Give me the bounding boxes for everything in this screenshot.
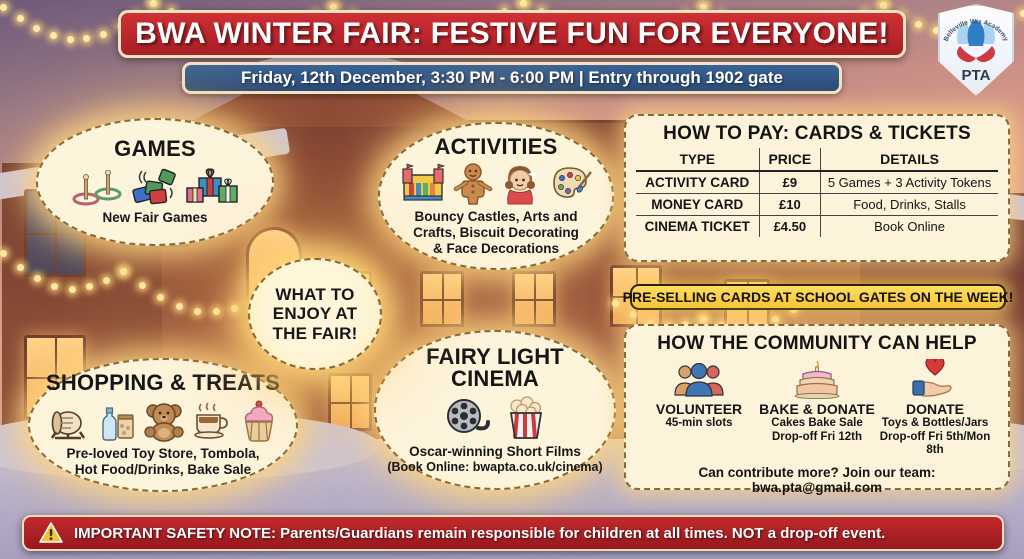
bubble-activities-line1: Bouncy Castles, Arts and [414,209,577,225]
heart-hand-icon [876,359,994,399]
bubble-activities-line3: & Face Decorations [433,241,559,257]
bubble-activities: ACTIVITIES [378,122,614,270]
light-bulb [194,308,201,315]
bubble-games-description: New Fair Games [102,210,207,226]
light-bulb [86,283,93,290]
table-row: CINEMA TICKET £4.50 Book Online [636,216,998,238]
community-help-footer: Can contribute more? Join our team: bwa.… [636,465,998,495]
logo-school-name: Belleville Wix Academy [938,4,1014,96]
table-row: MONEY CARD £10 Food, Drinks, Stalls [636,194,998,216]
help-item-line1: 45-min slots [640,417,758,431]
bubble-shopping-line1: Pre-loved Toy Store, Tombola, [66,446,259,462]
cupcake-icon [239,400,279,442]
pay-row-price: £4.50 [759,216,821,238]
help-item-title: DONATE [876,401,994,417]
help-item-title: BAKE & DONATE [758,401,876,417]
light-bulb [1020,10,1024,17]
light-bulb [139,282,146,289]
hub-line3: THE FAIR! [273,324,358,343]
light-bulb [176,303,183,310]
pay-row-type: CINEMA TICKET [636,216,759,238]
bubble-cinema-booking: (Book Online: bwapta.co.uk/cinema) [387,460,602,475]
pay-table: TYPE PRICE DETAILS ACTIVITY CARD £9 5 Ga… [636,148,998,237]
bubble-shopping-icons [47,400,279,442]
bubble-games-icons [71,166,239,206]
cake-icon [758,359,876,399]
pay-row-price: £9 [759,171,821,194]
community-help-panel: HOW THE COMMUNITY CAN HELP VOLUNTEER 45-… [624,324,1010,490]
gift-stack-icon [185,166,239,206]
table-row: ACTIVITY CARD £9 5 Games + 3 Activity To… [636,171,998,194]
bubble-activities-title: ACTIVITIES [434,136,557,159]
warning-triangle-icon [38,521,64,545]
light-bulb [67,36,74,43]
bubble-activities-icons [400,163,593,205]
pay-row-details: Book Online [821,216,998,238]
pay-row-type: MONEY CARD [636,194,759,216]
pay-table-header-row: TYPE PRICE DETAILS [636,148,998,171]
pta-logo: PTA Belleville Wix Academy [938,4,1014,96]
bubble-cinema-title-line2: CINEMA [451,368,539,391]
light-bulb [915,21,922,28]
gingerbread-man-icon [453,163,493,205]
pay-panel: HOW TO PAY: CARDS & TICKETS TYPE PRICE D… [624,114,1010,262]
pay-col-type: TYPE [636,148,759,171]
light-bulb [150,0,157,7]
poster-subtitle: Friday, 12th December, 3:30 PM - 6:00 PM… [241,68,783,88]
light-bulb [100,31,107,38]
light-bulb [0,250,7,257]
bottles-jars-icon [96,404,136,442]
pay-panel-title: HOW TO PAY: CARDS & TICKETS [636,123,998,145]
light-bulb [120,268,127,275]
bean-bag-toss-icon [130,168,178,206]
help-item-line2: Drop-off Fri 5th/Mon 8th [876,431,994,458]
bubble-shopping-line2: Hot Food/Drinks, Bake Sale [75,462,251,478]
light-bulb [0,4,7,11]
pay-row-details: 5 Games + 3 Activity Tokens [821,171,998,194]
light-bulb [17,264,24,271]
help-item-bake-donate: BAKE & DONATE Cakes Bake Sale Drop-off F… [758,359,876,458]
light-bulb [17,15,24,22]
bubble-cinema: FAIRY LIGHT CINEMA [374,330,616,490]
bubble-games-title: GAMES [114,138,196,161]
presell-banner: PRE-SELLING CARDS AT SCHOOL GATES ON THE… [630,284,1006,310]
light-bulb [880,2,887,9]
hub-line2: ENJOY AT [273,304,357,323]
bubble-hub: WHAT TO ENJOY AT THE FAIR! [248,258,382,370]
bubble-games: GAMES [36,118,274,246]
help-item-donate: DONATE Toys & Bottles/Jars Drop-off Fri … [876,359,994,458]
building-window [328,373,372,431]
help-item-line2: Drop-off Fri 12th [758,431,876,445]
building-window [420,271,464,327]
safety-note-text: IMPORTANT SAFETY NOTE: Parents/Guardians… [74,525,885,542]
poster-subtitle-bar: Friday, 12th December, 3:30 PM - 6:00 PM… [182,62,842,94]
paint-palette-icon [549,165,593,205]
bouncy-castle-icon [400,163,446,205]
building-window [512,271,556,327]
pay-row-price: £10 [759,194,821,216]
light-bulb [612,300,619,307]
help-item-line1: Toys & Bottles/Jars [876,417,994,431]
poster-title-bar: BWA WINTER FAIR: FESTIVE FUN FOR EVERYON… [118,10,906,58]
light-bulb [69,286,76,293]
hub-line1: WHAT TO [275,285,354,304]
community-help-columns: VOLUNTEER 45-min slots BAKE & DONATE [636,359,998,458]
help-item-line1: Cakes Bake Sale [758,417,876,431]
pay-col-price: PRICE [759,148,821,171]
light-bulb [213,308,220,315]
bubble-shopping-title: SHOPPING & TREATS [46,372,280,395]
winter-fair-poster: BWA WINTER FAIR: FESTIVE FUN FOR EVERYON… [0,0,1024,559]
film-reel-icon [444,398,496,440]
poster-title: BWA WINTER FAIR: FESTIVE FUN FOR EVERYON… [135,17,889,51]
popcorn-icon [503,396,547,440]
light-bulb [103,277,110,284]
bubble-cinema-description: Oscar-winning Short Films [409,444,581,460]
presell-banner-text: PRE-SELLING CARDS AT SCHOOL GATES ON THE… [623,289,1014,305]
bubble-cinema-icons [444,396,547,440]
help-item-volunteer: VOLUNTEER 45-min slots [640,359,758,458]
bubble-shopping: SHOPPING & TREATS [28,358,298,492]
bubble-activities-line2: Crafts, Biscuit Decorating [413,225,579,241]
light-bulb [700,316,707,323]
community-help-title: HOW THE COMMUNITY CAN HELP [636,333,998,355]
ring-toss-icon [71,170,123,206]
safety-note-bar: IMPORTANT SAFETY NOTE: Parents/Guardians… [22,515,1004,551]
svg-text:Belleville Wix Academy: Belleville Wix Academy [943,18,1010,43]
bubble-cinema-title-line1: FAIRY LIGHT [426,346,564,369]
three-people-icon [640,359,758,399]
teddy-bear-icon [143,402,185,442]
face-paint-girl-icon [500,163,542,205]
tombola-drum-icon [47,406,89,442]
pay-row-type: ACTIVITY CARD [636,171,759,194]
light-bulb [520,0,527,7]
help-item-title: VOLUNTEER [640,401,758,417]
hot-drink-icon [192,402,232,442]
pay-row-details: Food, Drinks, Stalls [821,194,998,216]
pay-col-details: DETAILS [821,148,998,171]
